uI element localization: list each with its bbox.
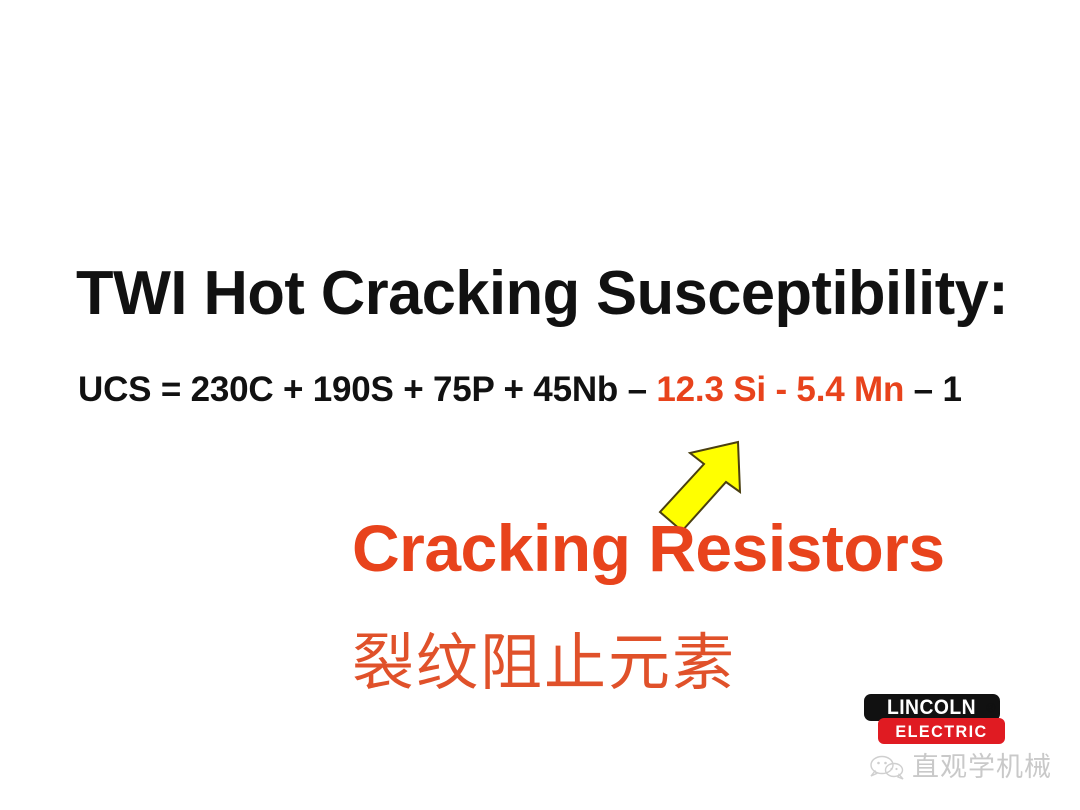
callout-english-text: Cracking Resistors <box>352 510 945 586</box>
watermark-label: 直观学机械 <box>912 754 1052 781</box>
logo-bottom-bar: ELECTRIC <box>878 718 1005 744</box>
wechat-bubbles-icon <box>866 752 906 782</box>
wechat-watermark: 直观学机械 <box>866 752 1052 782</box>
lincoln-electric-logo: LINCOLN ® ELECTRIC <box>864 694 1009 748</box>
formula-tail-segment: – 1 <box>904 370 962 409</box>
formula-highlight-segment: 12.3 Si - 5.4 Mn <box>656 370 904 409</box>
registered-trademark-icon: ® <box>986 701 996 714</box>
formula-lead-segment: UCS = 230C + 190S + 75P + 45Nb – <box>78 370 656 409</box>
logo-top-bar: LINCOLN <box>864 694 1000 721</box>
formula-line: UCS = 230C + 190S + 75P + 45Nb – 12.3 Si… <box>78 370 962 410</box>
logo-electric-text: ELECTRIC <box>895 723 987 740</box>
page-title: TWI Hot Cracking Susceptibility: <box>76 258 1008 329</box>
logo-lincoln-text: LINCOLN <box>887 697 978 718</box>
callout-chinese-text: 裂纹阻止元素 <box>352 612 736 702</box>
slide-canvas: TWI Hot Cracking Susceptibility: UCS = 2… <box>0 0 1080 810</box>
